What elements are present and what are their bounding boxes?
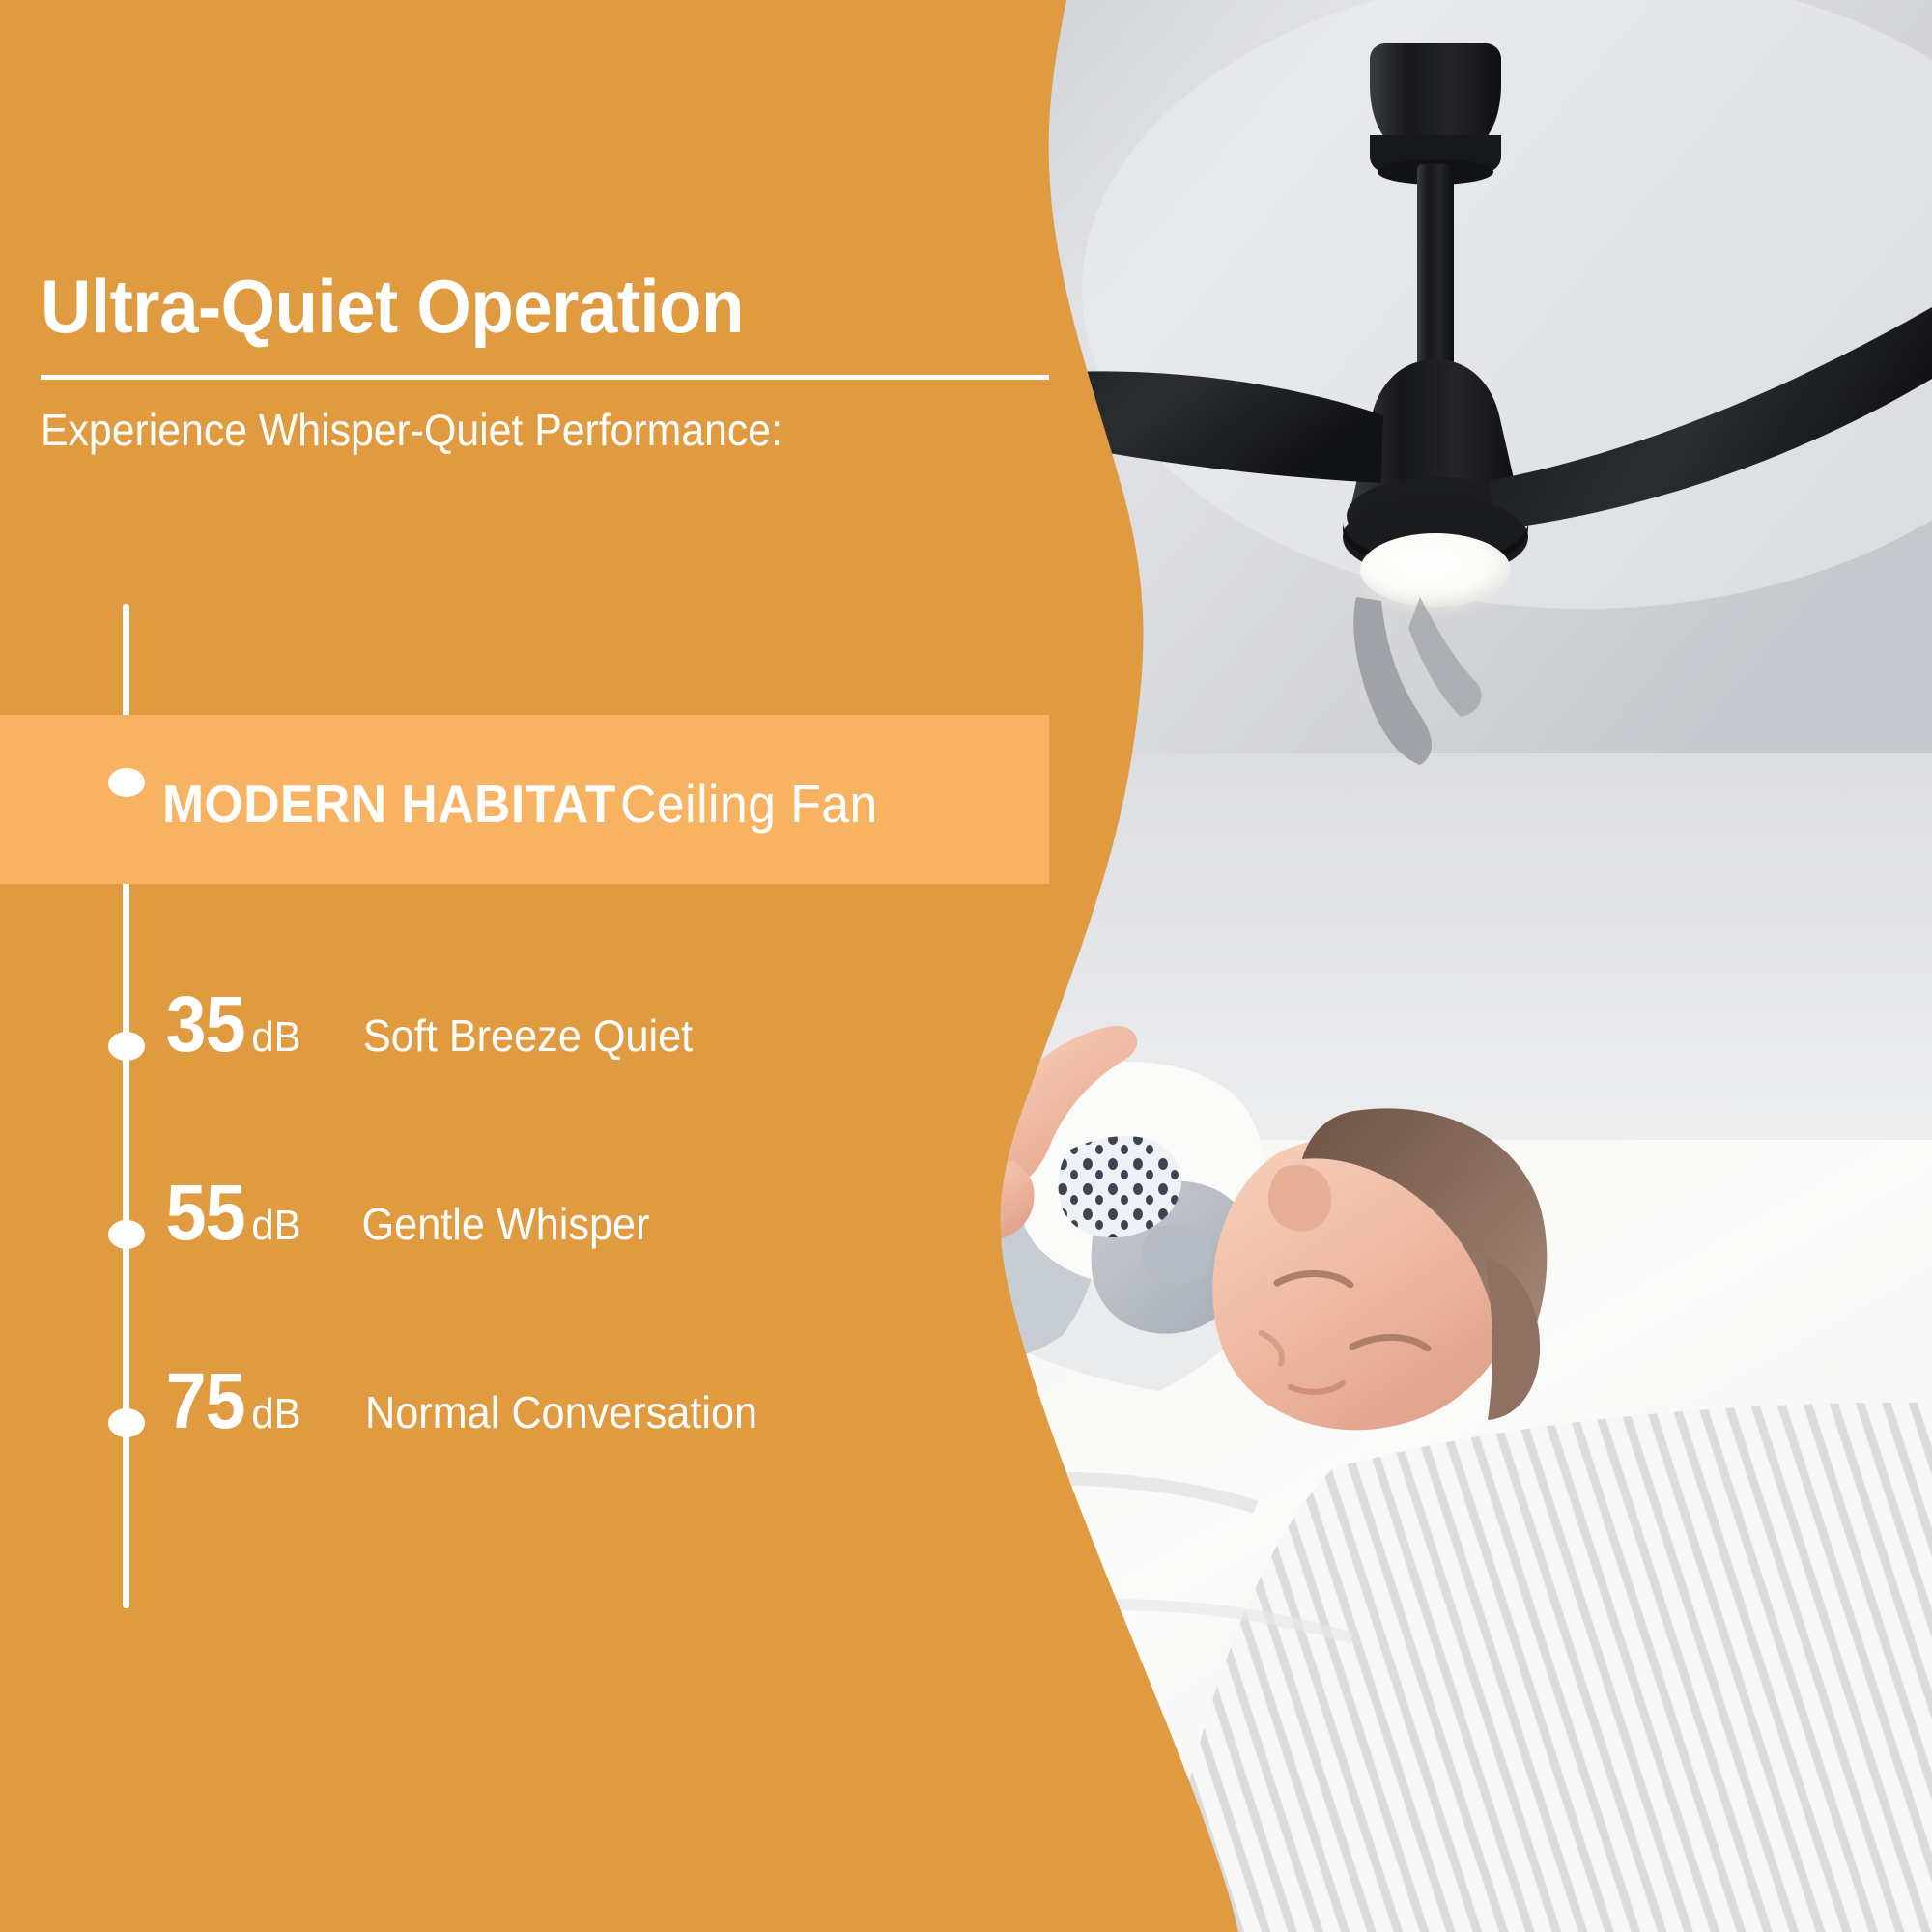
- timeline-dot-1: [108, 1220, 145, 1249]
- db-label-2: Normal Conversation: [365, 1390, 757, 1435]
- left-content: Ultra-Quiet Operation Experience Whisper…: [0, 0, 1932, 1932]
- page-title: Ultra-Quiet Operation: [41, 263, 744, 351]
- product-name-row: MODERN HABITAT Ceiling Fan: [162, 773, 878, 835]
- db-unit-2: dB: [252, 1393, 301, 1435]
- timeline-item-0: 35 dB Soft Breeze Quiet: [162, 985, 703, 1065]
- db-unit-1: dB: [252, 1205, 301, 1247]
- db-value-2: 75: [166, 1362, 245, 1441]
- product-type: Ceiling Fan: [620, 774, 878, 834]
- db-value-1: 55: [166, 1174, 245, 1253]
- db-label-0: Soft Breeze Quiet: [363, 1013, 693, 1058]
- product-brand: MODERN HABITAT: [162, 774, 616, 834]
- timeline-dot-0: [108, 1032, 145, 1061]
- db-unit-0: dB: [252, 1016, 301, 1059]
- timeline-item-1: 55 dB Gentle Whisper: [162, 1174, 659, 1253]
- timeline-item-2: 75 dB Normal Conversation: [162, 1362, 770, 1441]
- timeline-dot-product: [108, 768, 145, 797]
- page-subtitle: Experience Whisper-Quiet Performance:: [41, 404, 782, 456]
- timeline-dot-2: [108, 1408, 145, 1437]
- db-label-1: Gentle Whisper: [362, 1202, 650, 1246]
- title-divider: [41, 375, 1049, 380]
- db-value-0: 35: [166, 985, 245, 1065]
